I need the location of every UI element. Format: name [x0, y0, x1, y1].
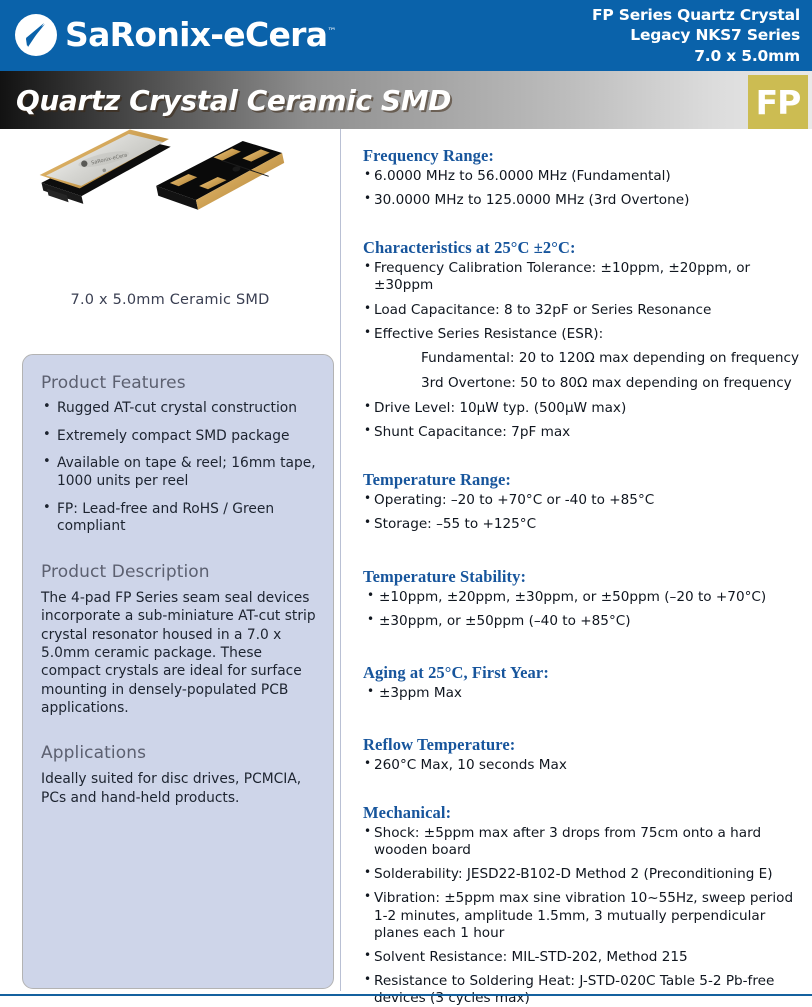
spec-heading: Frequency Range: [363, 146, 805, 166]
product-features-list: Rugged AT-cut crystal construction Extre… [41, 400, 317, 536]
applications-text: Ideally suited for disc drives, PCMCIA, … [41, 770, 317, 807]
header-title-line-3: 7.0 x 5.0mm [592, 46, 800, 67]
product-photo: SaRonix-eCera [0, 129, 340, 279]
header-title-line-1: FP Series Quartz Crystal [592, 5, 800, 26]
spacer [341, 637, 812, 663]
product-features-heading: Product Features [41, 373, 317, 393]
applications-heading: Applications [41, 743, 317, 763]
specifications-column: Frequency Range: 6.0000 MHz to 56.0000 M… [340, 129, 812, 991]
spec-mechanical: Mechanical: Shock: ±5ppm max after 3 dro… [341, 803, 812, 1007]
spacer [341, 709, 812, 735]
list-item: Extremely compact SMD package [41, 428, 317, 446]
list-item: Shunt Capacitance: 7pF max [363, 424, 805, 441]
list-item: Drive Level: 10μW typ. (500μW max) [363, 400, 805, 417]
header-product-title: FP Series Quartz Crystal Legacy NKS7 Ser… [592, 5, 812, 67]
list-item: Effective Series Resistance (ESR): [363, 326, 805, 343]
page-header: SaRonix-eCera™ FP Series Quartz Crystal … [0, 0, 812, 71]
list-item: Operating: –20 to +70°C or -40 to +85°C [363, 492, 805, 509]
spec-list: Operating: –20 to +70°C or -40 to +85°C … [363, 492, 805, 533]
spec-list-continued: Drive Level: 10μW typ. (500μW max) Shunt… [363, 400, 805, 441]
spec-list: ±10ppm, ±20ppm, ±30ppm, or ±50ppm (–20 t… [363, 589, 805, 630]
spec-heading: Characteristics at 25°C ±2°C: [363, 238, 805, 258]
list-item: ±3ppm Max [363, 685, 805, 702]
list-item: Frequency Calibration Tolerance: ±10ppm,… [363, 260, 805, 294]
list-item: Vibration: ±5ppm max sine vibration 10~5… [363, 890, 805, 941]
series-badge: FP [748, 75, 808, 129]
spec-heading: Mechanical: [363, 803, 805, 823]
spacer [341, 781, 812, 803]
saronix-circle-slash-logo-icon [14, 13, 58, 57]
list-item: Fundamental: 20 to 120Ω max depending on… [421, 350, 805, 367]
spec-characteristics: Characteristics at 25°C ±2°C: Frequency … [341, 238, 812, 441]
product-description-heading: Product Description [41, 562, 317, 582]
list-item: Load Capacitance: 8 to 32pF or Series Re… [363, 302, 805, 319]
list-item: Shock: ±5ppm max after 3 drops from 75cm… [363, 825, 805, 859]
spec-list: Frequency Calibration Tolerance: ±10ppm,… [363, 260, 805, 343]
brand-name: SaRonix-eCera™ [65, 15, 336, 54]
footer-rule [0, 994, 812, 996]
spacer [341, 541, 812, 567]
spacer [341, 448, 812, 470]
spec-list: 6.0000 MHz to 56.0000 MHz (Fundamental) … [363, 168, 805, 209]
list-item: Storage: –55 to +125°C [363, 516, 805, 533]
left-column: SaRonix-eCera [0, 129, 340, 991]
spec-temperature-stability: Temperature Stability: ±10ppm, ±20ppm, ±… [341, 567, 812, 630]
page-content: SaRonix-eCera [0, 129, 812, 991]
list-item: Available on tape & reel; 16mm tape, 100… [41, 455, 317, 490]
header-title-line-2: Legacy NKS7 Series [592, 25, 800, 46]
spec-list: 260°C Max, 10 seconds Max [363, 757, 805, 774]
trademark-symbol: ™ [327, 27, 336, 37]
spec-frequency-range: Frequency Range: 6.0000 MHz to 56.0000 M… [341, 129, 812, 209]
list-item: 3rd Overtone: 50 to 80Ω max depending on… [421, 375, 805, 392]
section-title-bar: Quartz Crystal Ceramic SMD FP [0, 71, 812, 129]
list-item: Resistance to Soldering Heat: J-STD-020C… [363, 973, 805, 1007]
spacer [341, 216, 812, 238]
spec-heading: Reflow Temperature: [363, 735, 805, 755]
spec-reflow-temperature: Reflow Temperature: 260°C Max, 10 second… [341, 735, 812, 774]
list-item: Solvent Resistance: MIL-STD-202, Method … [363, 949, 805, 966]
product-info-panel: Product Features Rugged AT-cut crystal c… [22, 354, 334, 989]
spec-heading: Aging at 25°C, First Year: [363, 663, 805, 683]
product-description-text: The 4-pad FP Series seam seal devices in… [41, 589, 317, 717]
spec-heading: Temperature Stability: [363, 567, 805, 587]
list-item: FP: Lead-free and RoHS / Green compliant [41, 501, 317, 536]
section-title: Quartz Crystal Ceramic SMD [0, 84, 451, 117]
list-item: 30.0000 MHz to 125.0000 MHz (3rd Overton… [363, 192, 805, 209]
spec-temperature-range: Temperature Range: Operating: –20 to +70… [341, 470, 812, 533]
photo-caption: 7.0 x 5.0mm Ceramic SMD [0, 292, 340, 308]
spec-list: Shock: ±5ppm max after 3 drops from 75cm… [363, 825, 805, 1007]
brand-name-text: SaRonix-eCera [65, 15, 327, 54]
list-item: 6.0000 MHz to 56.0000 MHz (Fundamental) [363, 168, 805, 185]
spec-aging: Aging at 25°C, First Year: ±3ppm Max [341, 663, 812, 702]
spec-list: ±3ppm Max [363, 685, 805, 702]
list-item: ±30ppm, or ±50ppm (–40 to +85°C) [363, 613, 805, 630]
list-item: ±10ppm, ±20ppm, ±30ppm, or ±50ppm (–20 t… [363, 589, 805, 606]
spec-heading: Temperature Range: [363, 470, 805, 490]
brand-logo: SaRonix-eCera™ [0, 13, 336, 57]
list-item: Rugged AT-cut crystal construction [41, 400, 317, 418]
esr-sublist: Fundamental: 20 to 120Ω max depending on… [363, 350, 805, 392]
list-item: 260°C Max, 10 seconds Max [363, 757, 805, 774]
ceramic-smd-crystal-photo-icon: SaRonix-eCera [0, 129, 340, 279]
list-item: Solderability: JESD22-B102-D Method 2 (P… [363, 866, 805, 883]
